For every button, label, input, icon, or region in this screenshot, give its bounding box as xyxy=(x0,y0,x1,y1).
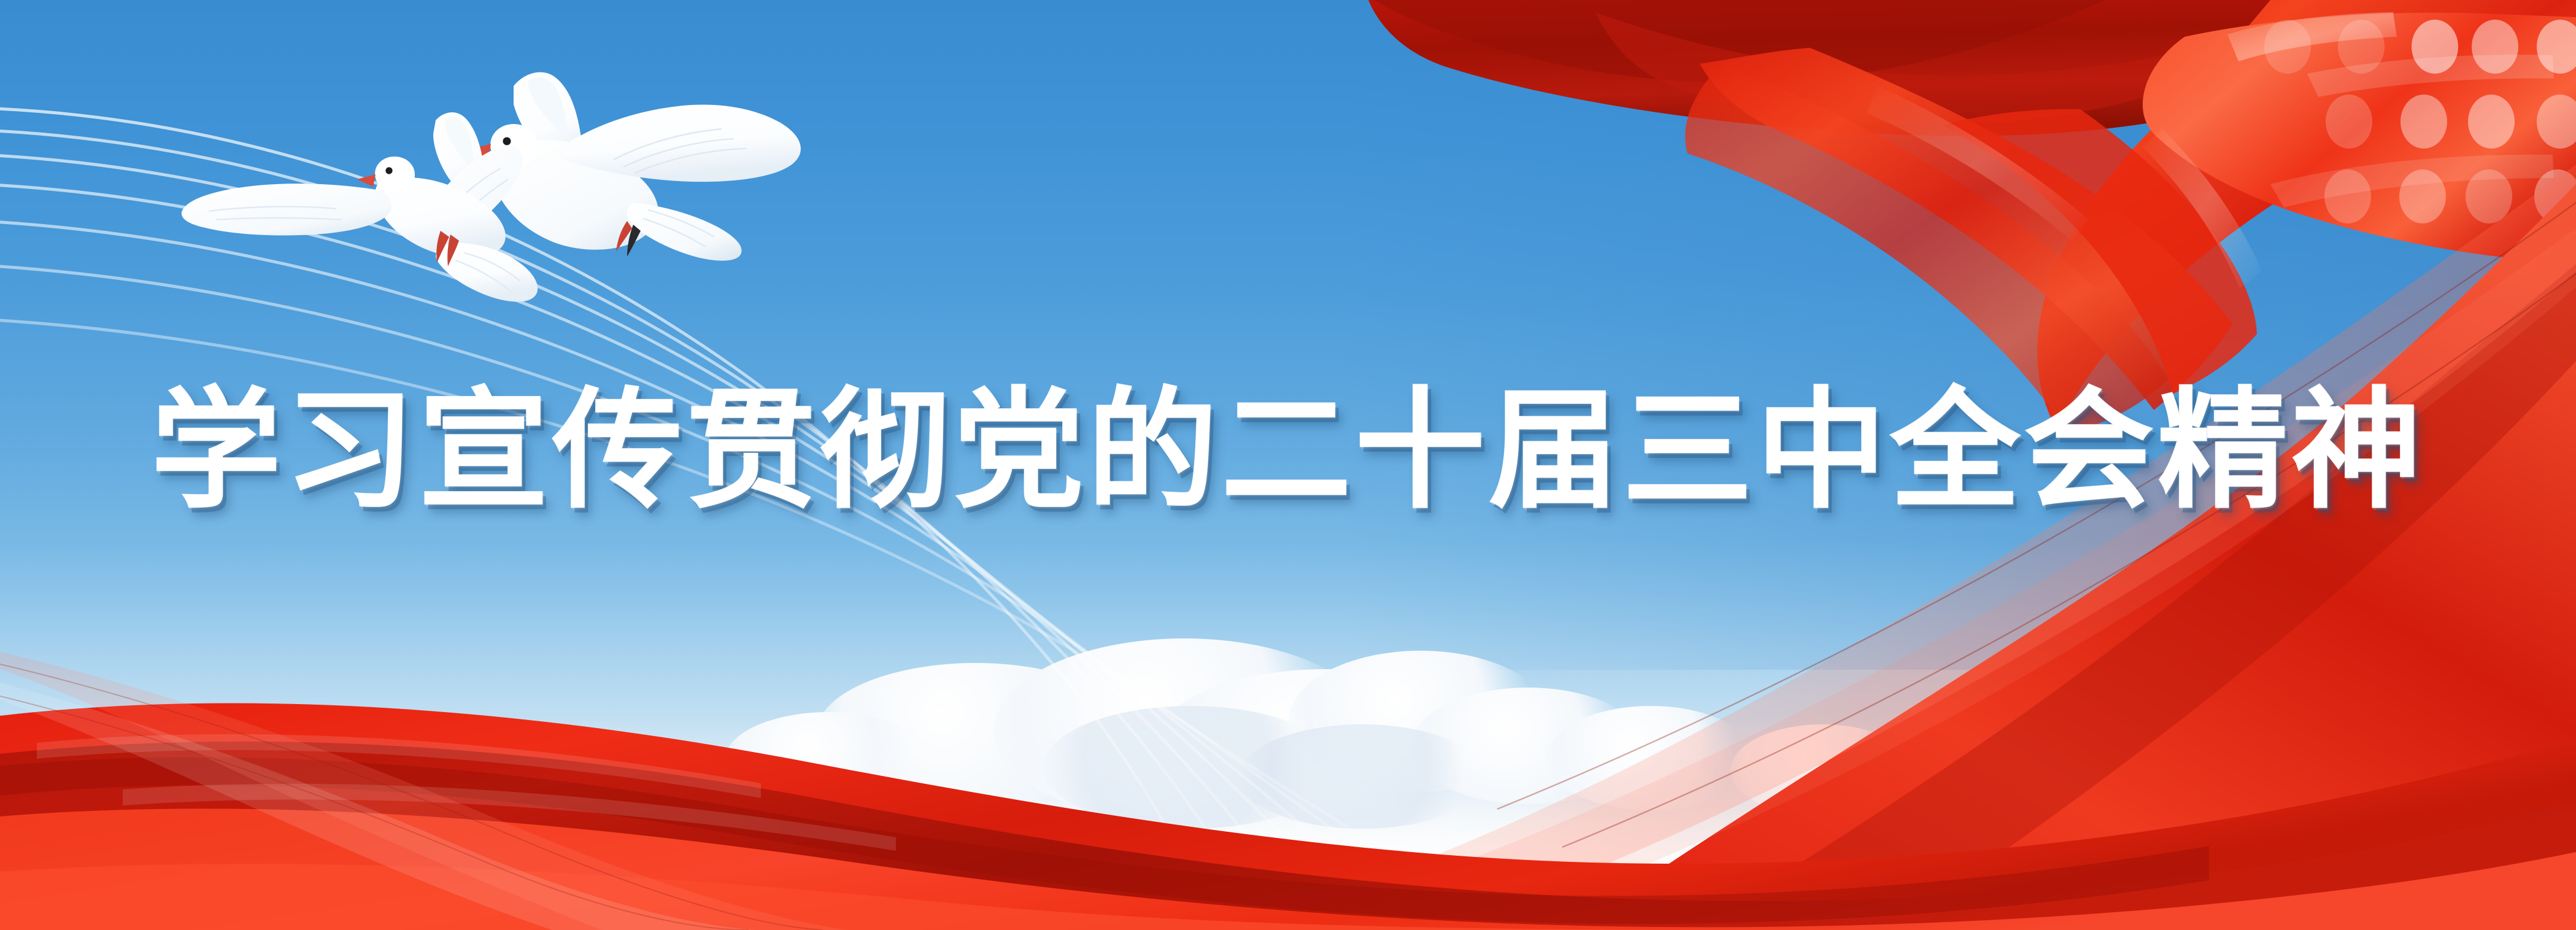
banner-root: 学习宣传贯彻党的二十届三中全会精神 xyxy=(0,0,2576,930)
banner-title-wrap: 学习宣传贯彻党的二十届三中全会精神 xyxy=(0,366,2576,538)
page-title: 学习宣传贯彻党的二十届三中全会精神 xyxy=(133,386,2443,518)
